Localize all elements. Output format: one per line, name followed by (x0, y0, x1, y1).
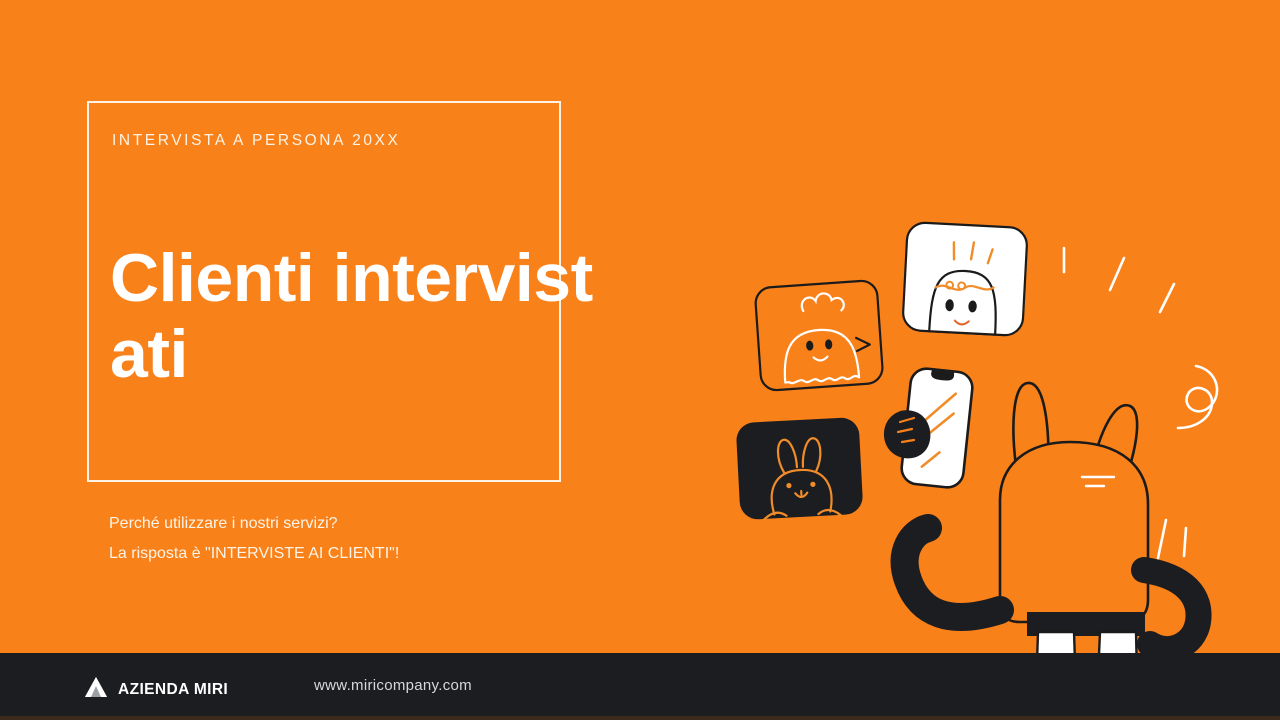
mountain-chevron-logo-icon (84, 675, 108, 704)
avatar-card-ghost-orange (755, 280, 884, 391)
avatar-card-crowned-white (902, 222, 1027, 336)
slide-subtitle: Perché utilizzare i nostri servizi? La r… (109, 509, 399, 569)
curly-squiggle (1178, 366, 1217, 428)
brand-name: AZIENDA MIRI (118, 681, 228, 699)
slide-eyebrow: INTERVISTA A PERSONA 20XX (112, 132, 400, 150)
avatar-card-bunny-dark (736, 417, 864, 520)
bunny-character (1000, 383, 1199, 680)
presentation-slide: INTERVISTA A PERSONA 20XX Clienti interv… (0, 0, 1280, 720)
slide-title: Clienti intervistati (110, 240, 630, 392)
subtitle-line-1: Perché utilizzare i nostri servizi? (109, 509, 399, 539)
website-url: www.miricompany.com (314, 677, 472, 694)
subtitle-line-2: La risposta è "INTERVISTE AI CLIENTI"! (109, 539, 399, 569)
hero-illustration (700, 180, 1260, 680)
brand-lockup: AZIENDA MIRI (84, 675, 228, 704)
slide-footer: AZIENDA MIRI www.miricompany.com (0, 653, 1280, 720)
